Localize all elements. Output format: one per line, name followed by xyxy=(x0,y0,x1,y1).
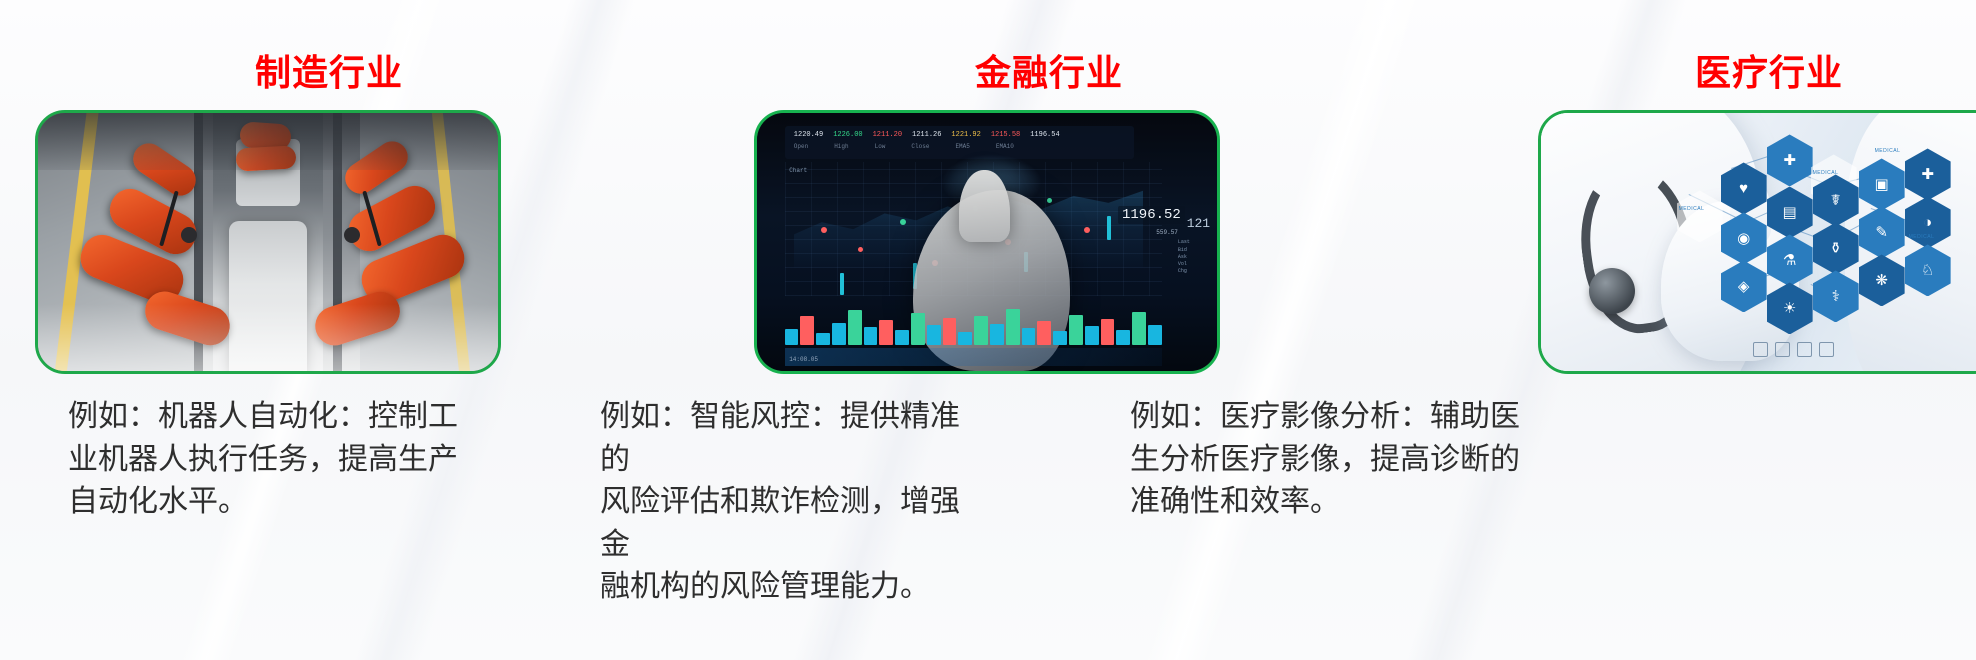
finance-photo-art: 1220.49 1226.00 1211.20 1211.26 1221.92 … xyxy=(757,113,1217,371)
factory-ceiling-shadow xyxy=(38,113,498,170)
ticker-value-3: 1211.26 xyxy=(912,131,941,139)
caption-finance: 例如：智能风控：提供精准的 风险评估和欺诈检测，增强金 融机构的风险管理能力。 xyxy=(600,396,980,609)
hex-camera-icon: ▣ xyxy=(1859,158,1905,210)
small-square-icon-4 xyxy=(1819,342,1834,357)
hex-bone-icon: ☀ xyxy=(1767,282,1813,334)
ticker-value-5: 1215.58 xyxy=(991,131,1020,139)
hex-virus-icon: ❋ xyxy=(1859,254,1905,306)
photo-finance: 1220.49 1226.00 1211.20 1211.26 1221.92 … xyxy=(754,110,1220,374)
ticker-value-0: 1220.49 xyxy=(794,131,823,139)
hex-label-0: MEDICAL xyxy=(1679,206,1705,212)
hex-medical-label-2 xyxy=(1677,190,1723,242)
ticker-label-1: High xyxy=(834,143,848,156)
right-edge-column: Last Bid Ask Vol Chg xyxy=(1178,239,1210,275)
hexagon-icon-network: ♥ ✚ ☤ ▣ ✚ ◉ ▤ ⚗ ⚱ ✎ ◑ ⚕ ❋ ♘ ☀ xyxy=(1661,128,1976,355)
hex-eye-icon: ◉ xyxy=(1721,212,1767,264)
medical-photo-art: ♥ ✚ ☤ ▣ ✚ ◉ ▤ ⚗ ⚱ ✎ ◑ ⚕ ❋ ♘ ☀ xyxy=(1541,113,1976,371)
photo-manufacturing xyxy=(35,110,501,374)
panel-title-finance: 金融行业 xyxy=(720,55,1378,91)
small-square-icon-2 xyxy=(1775,342,1790,357)
big-price-subvalue: 559.57 xyxy=(1156,229,1178,236)
ticker-row: 1220.49 1226.00 1211.20 1211.26 1221.92 … xyxy=(794,127,1125,142)
hex-label-3: MEDICAL xyxy=(1909,234,1935,240)
hex-cross-icon: ✚ xyxy=(1767,134,1813,186)
ticker-value-6: 1196.54 xyxy=(1030,131,1059,139)
robot-joint-left xyxy=(181,227,197,243)
photo-healthcare: ♥ ✚ ☤ ▣ ✚ ◉ ▤ ⚗ ⚱ ✎ ◑ ⚕ ❋ ♘ ☀ xyxy=(1538,110,1976,374)
factory-photo-art xyxy=(38,113,498,371)
right-edge-number: 121 xyxy=(1187,216,1210,231)
panel-title-healthcare: 医疗行业 xyxy=(1440,55,1976,91)
ticker-value-1: 1226.00 xyxy=(833,131,862,139)
ticker-label-2: Low xyxy=(875,143,886,156)
hex-heart-icon: ♥ xyxy=(1721,162,1767,214)
chart-footer-bar xyxy=(785,348,1162,366)
bottom-icon-row xyxy=(1753,337,1891,360)
hex-flask-icon: ⚱ xyxy=(1813,222,1859,274)
volume-bars xyxy=(785,304,1162,345)
hex-tooth-icon: ♘ xyxy=(1905,244,1951,296)
stethoscope-bell-icon xyxy=(1589,268,1635,314)
hex-label-2: MEDICAL xyxy=(1875,148,1901,154)
robot-joint-right xyxy=(344,227,360,243)
panel-title-manufacturing: 制造行业 xyxy=(0,55,658,91)
hex-label-1: MEDICAL xyxy=(1813,170,1839,176)
ticker-label-3: Close xyxy=(911,143,929,156)
hex-syringe-icon: ✎ xyxy=(1859,206,1905,258)
hex-clipboard-icon: ▤ xyxy=(1767,186,1813,238)
hex-dna-icon: ⚕ xyxy=(1813,270,1859,322)
caption-healthcare: 例如：医疗影像分析：辅助医 生分析医疗影像，提高诊断的 准确性和效率。 xyxy=(1130,396,1520,524)
panel-healthcare: 医疗行业 xyxy=(1316,0,1974,660)
ticker-label-0: Open xyxy=(794,143,808,156)
hex-cross-icon-2: ✚ xyxy=(1905,148,1951,200)
panel-manufacturing: 制造行业 xyxy=(0,0,658,660)
ticker-value-2: 1211.20 xyxy=(873,131,902,139)
small-square-icon-1 xyxy=(1753,342,1768,357)
hex-stethoscope-icon: ◈ xyxy=(1721,260,1767,312)
ticker-value-4: 1221.92 xyxy=(951,131,980,139)
industry-panels: 制造行业 xyxy=(0,0,1976,660)
big-price-readout: 1196.52 xyxy=(1118,206,1185,224)
hex-microscope-icon: ⚗ xyxy=(1767,234,1813,286)
small-square-icon-3 xyxy=(1797,342,1812,357)
panel-finance: 金融行业 1220.49 1226.00 1211.20 1211.26 122… xyxy=(658,0,1316,660)
hex-pill-icon: ◑ xyxy=(1905,196,1951,248)
chart-panel-label: Chart xyxy=(789,167,807,174)
caption-manufacturing: 例如：机器人自动化：控制工 业机器人执行任务，提高生产 自动化水平。 xyxy=(68,396,468,524)
factory-floor-highlight xyxy=(38,304,498,371)
chart-time-label: 14:08.05 xyxy=(789,356,818,363)
